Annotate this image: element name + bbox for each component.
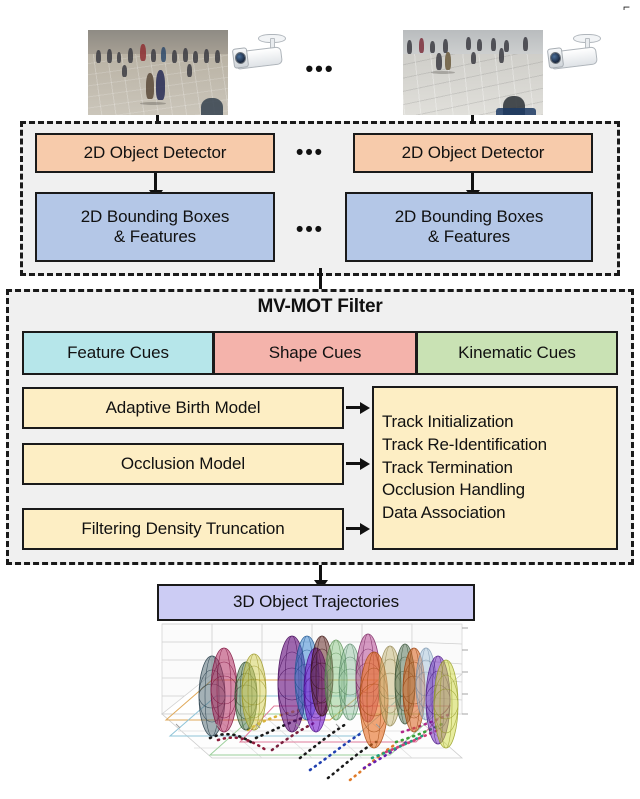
cue-kinematic: Kinematic Cues bbox=[416, 331, 618, 375]
arrow-truncation-to-outputs bbox=[346, 527, 361, 530]
pedestrian bbox=[477, 39, 482, 51]
model-adaptive-birth-label: Adaptive Birth Model bbox=[106, 398, 261, 418]
pedestrian bbox=[107, 49, 112, 63]
output-item: Track Initialization bbox=[382, 411, 616, 434]
detector-box-1: 2D Object Detector bbox=[35, 133, 275, 173]
pedestrian bbox=[172, 50, 177, 63]
cue-shape-label: Shape Cues bbox=[269, 343, 362, 363]
pedestrian bbox=[122, 65, 127, 77]
boxes-features-box-1: 2D Bounding Boxes & Features bbox=[35, 192, 275, 262]
arrow-occlusion-to-outputs bbox=[346, 462, 361, 465]
pedestrian bbox=[215, 50, 220, 63]
pedestrian bbox=[96, 50, 101, 63]
security-camera-icon-n bbox=[547, 32, 603, 74]
detector-box-1-label: 2D Object Detector bbox=[84, 143, 227, 163]
pedestrian bbox=[499, 48, 504, 63]
model-occlusion-label: Occlusion Model bbox=[121, 454, 245, 474]
model-filtering-density-label: Filtering Density Truncation bbox=[81, 519, 284, 539]
pedestrian bbox=[161, 47, 166, 62]
pedestrian bbox=[436, 53, 442, 70]
pedestrian bbox=[445, 52, 451, 70]
output-item: Data Association bbox=[382, 502, 616, 525]
model-filtering-density-truncation: Filtering Density Truncation bbox=[22, 508, 344, 550]
mvmot-filter-title: MV-MOT Filter bbox=[6, 296, 634, 318]
arrow-birth-to-outputs bbox=[346, 406, 361, 409]
pedestrian bbox=[491, 38, 496, 51]
pedestrian bbox=[204, 49, 209, 63]
model-occlusion: Occlusion Model bbox=[22, 443, 344, 485]
boxes-row-ellipsis: ••• bbox=[285, 219, 335, 240]
boxes-features-1-line2: & Features bbox=[114, 227, 196, 247]
pedestrian-shadow bbox=[431, 71, 455, 74]
arrow-detector1-to-boxes1 bbox=[154, 173, 157, 191]
output-item: Occlusion Handling bbox=[382, 479, 616, 502]
detector-row-ellipsis: ••• bbox=[285, 142, 335, 163]
boxes-features-n-line1: 2D Bounding Boxes bbox=[395, 207, 544, 227]
trajectories-box: 3D Object Trajectories bbox=[157, 584, 475, 621]
pedestrian bbox=[140, 44, 146, 61]
pedestrian-foreground bbox=[201, 98, 223, 115]
output-item: Track Termination bbox=[382, 457, 616, 480]
pedestrian bbox=[430, 41, 435, 53]
pedestrian bbox=[466, 37, 471, 50]
pedestrian-foreground-torso bbox=[496, 108, 536, 115]
cue-feature-label: Feature Cues bbox=[67, 343, 169, 363]
pedestrian bbox=[523, 37, 528, 51]
trajectory-3d-plot bbox=[150, 618, 620, 799]
model-adaptive-birth: Adaptive Birth Model bbox=[22, 387, 344, 429]
security-camera-icon-1 bbox=[232, 32, 288, 74]
trajectories-label: 3D Object Trajectories bbox=[233, 592, 399, 612]
cue-feature: Feature Cues bbox=[22, 331, 214, 375]
figure-canvas: ⌐ ••• bbox=[0, 0, 640, 799]
pedestrian bbox=[183, 48, 188, 62]
pedestrian bbox=[504, 40, 509, 52]
camera-view-n-image bbox=[403, 30, 543, 115]
pedestrian bbox=[187, 64, 192, 77]
trajectory-3d-plot-svg bbox=[150, 618, 620, 799]
pedestrian bbox=[151, 49, 156, 62]
boxes-features-1-line1: 2D Bounding Boxes bbox=[81, 207, 230, 227]
pedestrian bbox=[156, 70, 165, 100]
pedestrian bbox=[443, 39, 448, 53]
detector-box-n: 2D Object Detector bbox=[353, 133, 593, 173]
pedestrian bbox=[419, 38, 424, 53]
detector-box-n-label: 2D Object Detector bbox=[402, 143, 545, 163]
pedestrian bbox=[471, 52, 476, 64]
output-item: Track Re-Identification bbox=[382, 434, 616, 457]
boxes-features-box-n: 2D Bounding Boxes & Features bbox=[345, 192, 593, 262]
pedestrian bbox=[117, 52, 121, 63]
pedestrian bbox=[407, 40, 412, 54]
boxes-features-n-line2: & Features bbox=[428, 227, 510, 247]
arrow-filter-to-trajectories bbox=[319, 565, 322, 581]
arrow-detectorn-to-boxesn bbox=[471, 173, 474, 191]
cue-shape: Shape Cues bbox=[213, 331, 417, 375]
pedestrian-shadow bbox=[140, 102, 166, 105]
camera-view-1-image bbox=[88, 30, 228, 115]
pedestrian bbox=[146, 73, 154, 99]
cue-kinematic-label: Kinematic Cues bbox=[458, 343, 576, 363]
arrow-detection-to-filter bbox=[319, 268, 322, 290]
corner-mark-glyph: ⌐ bbox=[623, 1, 630, 13]
pedestrian bbox=[128, 48, 133, 63]
filter-outputs-box: Track Initialization Track Re-Identifica… bbox=[372, 386, 618, 550]
pedestrian bbox=[193, 51, 198, 63]
input-views-ellipsis: ••• bbox=[295, 58, 345, 80]
